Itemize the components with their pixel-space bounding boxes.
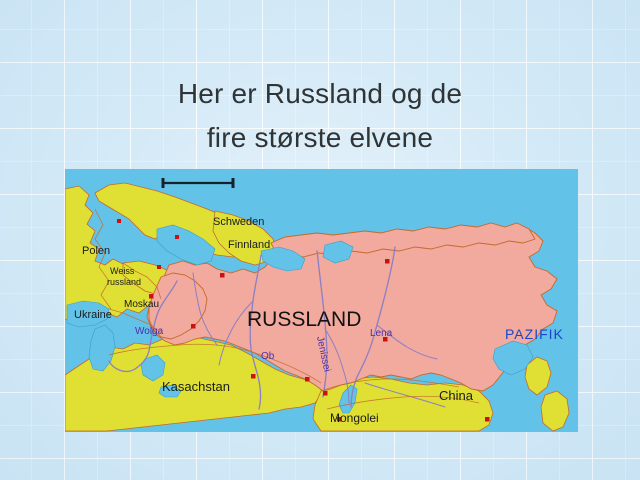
city-dot-moskau	[149, 294, 154, 299]
city-dot-baltic	[157, 265, 161, 269]
map-label-weiss: Weiss	[110, 266, 135, 276]
map-label-lena: Lena	[370, 328, 393, 339]
map-label-russland-weiss: russland	[107, 277, 141, 287]
map-label-ob: Ob	[261, 351, 275, 362]
map-label-schweden: Schweden	[213, 216, 264, 228]
map-label-ukraine: Ukraine	[74, 309, 112, 321]
map-label-finnland: Finnland	[228, 239, 270, 251]
city-dot-europe-west	[117, 219, 121, 223]
city-dot-krasnoyarsk	[305, 377, 310, 382]
map-label-mongolei: Mongolei	[330, 411, 379, 425]
map-label-wolga: Wolga	[135, 326, 164, 337]
map-label-pazifik: PAZIFIK	[505, 326, 564, 342]
map-image: Schweden Finnland Polen Weiss russland U…	[65, 169, 578, 432]
map-label-kasachstan: Kasachstan	[162, 379, 230, 394]
city-dot-vladivostok	[485, 417, 490, 422]
city-dot-scandinavia	[175, 235, 179, 239]
city-dot-central	[191, 324, 196, 329]
city-dot-jenissei-end	[323, 391, 328, 396]
city-dot-novosibirsk	[251, 374, 256, 379]
map-label-china: China	[439, 388, 474, 403]
slide-title: Her er Russland og de fire største elven…	[0, 72, 640, 160]
city-dot-yakutsk	[385, 259, 390, 264]
title-line-2: fire største elvene	[0, 116, 640, 160]
map-label-moskau: Moskau	[124, 299, 159, 310]
title-line-1: Her er Russland og de	[0, 72, 640, 116]
map-label-russland: RUSSLAND	[247, 308, 361, 331]
map-label-polen: Polen	[82, 245, 110, 257]
city-dot-stpetersburg	[220, 273, 225, 278]
